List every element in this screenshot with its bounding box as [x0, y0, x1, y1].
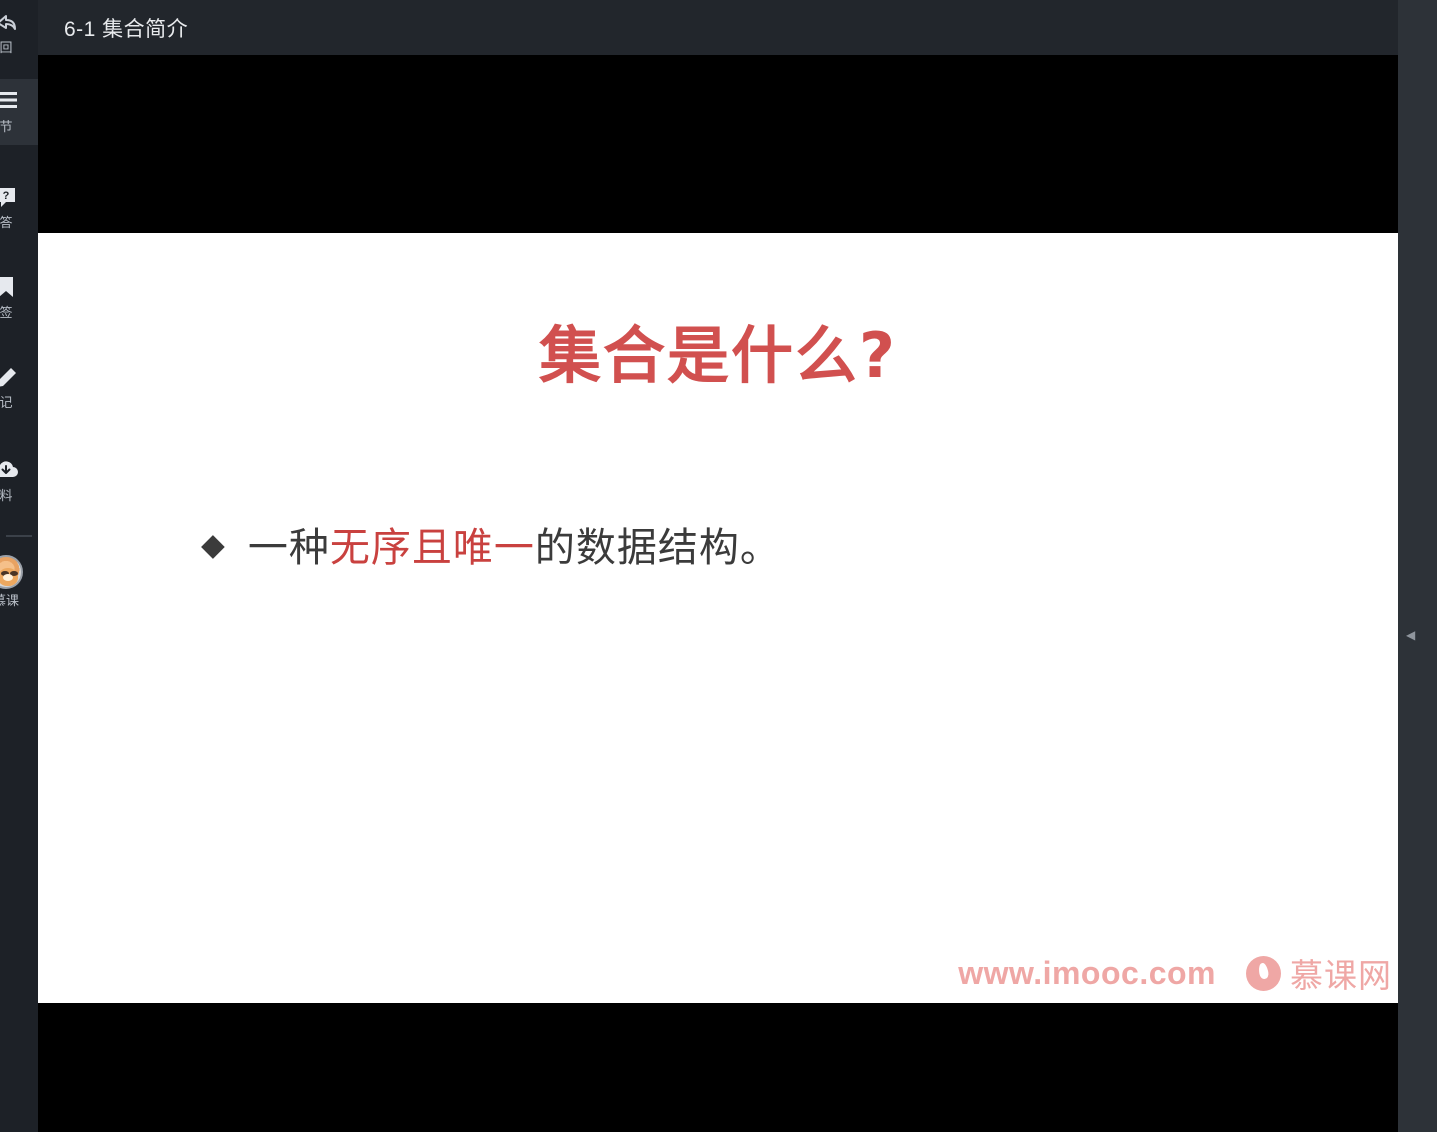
note-pencil-icon [0, 366, 18, 392]
slide-content: 集合是什么? ◆ 一种无序且唯一的数据结构。 www.imooc.com 慕课网 [38, 233, 1398, 1003]
sidebar-item-label: 回 [0, 40, 13, 56]
sidebar-item-label: 节 [0, 119, 13, 135]
question-answer-icon: ? [0, 186, 18, 212]
slide-title: 集合是什么? [38, 305, 1398, 395]
sidebar-item-qa[interactable]: ? 答 [0, 175, 38, 241]
left-sidebar: 回 节 ? 答 [0, 0, 38, 1132]
sidebar-item-bookmark[interactable]: 签 [0, 265, 38, 331]
avatar [0, 555, 23, 589]
bullet-text-highlight: 无序且唯一 [330, 526, 535, 570]
page-title: 6-1 集合简介 [64, 13, 188, 43]
bullet-text-part-1: 一种 [248, 526, 330, 570]
sidebar-item-chapters[interactable]: 节 [0, 79, 38, 145]
top-bar: 6-1 集合简介 [38, 0, 1398, 55]
sidebar-item-label: 料 [0, 488, 13, 504]
bookmark-icon [0, 276, 15, 302]
bullet-text: 一种无序且唯一的数据结构。 [248, 515, 781, 573]
account-label: 慕课 [0, 593, 19, 609]
sidebar-item-label: 记 [0, 395, 13, 411]
sidebar-item-back[interactable]: 回 [0, 0, 38, 66]
sidebar-item-label: 签 [0, 305, 13, 321]
sidebar-item-materials[interactable]: 料 [0, 448, 38, 514]
chapters-list-icon [0, 90, 19, 116]
download-materials-icon [0, 459, 19, 485]
slide-bullet: ◆ 一种无序且唯一的数据结构。 [201, 515, 781, 573]
bullet-text-part-3: 的数据结构。 [535, 526, 781, 570]
chevron-left-icon[interactable]: ◀ [1406, 628, 1418, 642]
flame-icon [1246, 956, 1281, 991]
back-arrow-icon [0, 11, 18, 37]
course-player-window: 回 节 ? 答 [0, 0, 1437, 1132]
slide-footer: www.imooc.com 慕课网 [958, 949, 1398, 997]
sidebar-divider [6, 535, 32, 537]
sidebar-item-label: 答 [0, 215, 13, 231]
right-rail: ◀ [1398, 0, 1437, 1132]
watermark-url: www.imooc.com [958, 955, 1216, 992]
svg-text:?: ? [3, 190, 10, 202]
sidebar-item-notes[interactable]: 记 [0, 355, 38, 421]
brand-name: 慕课网 [1290, 949, 1392, 997]
bullet-diamond-icon: ◆ [201, 529, 226, 560]
sidebar-account[interactable]: 慕课 [0, 555, 38, 609]
video-stage[interactable]: 集合是什么? ◆ 一种无序且唯一的数据结构。 www.imooc.com 慕课网 [38, 55, 1398, 1132]
imooc-logo: 慕课网 [1246, 949, 1392, 997]
